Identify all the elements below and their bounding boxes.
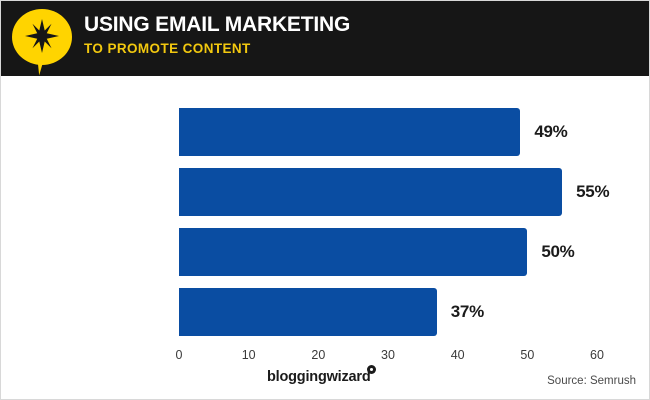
bar-row: Successful55% xyxy=(179,168,597,216)
star-burst-icon xyxy=(25,19,59,53)
bar-value-label: 50% xyxy=(541,242,574,262)
bar-row: Minimally Successful50% xyxy=(179,228,597,276)
bar xyxy=(179,288,437,336)
bar xyxy=(179,108,520,156)
page-subtitle: TO PROMOTE CONTENT xyxy=(84,40,350,57)
x-tick-label: 50 xyxy=(520,348,534,362)
bar-value-label: 49% xyxy=(534,122,567,142)
x-tick-label: 60 xyxy=(590,348,604,362)
x-tick-label: 10 xyxy=(242,348,256,362)
registered-dot-icon xyxy=(367,365,376,374)
x-tick-label: 40 xyxy=(451,348,465,362)
header-text-block: USING EMAIL MARKETING TO PROMOTE CONTENT xyxy=(84,13,350,57)
bar-chart-plot: Very Successful49%Successful55%Minimally… xyxy=(179,106,597,343)
source-credit: Source: Semrush xyxy=(547,375,636,387)
bar xyxy=(179,228,527,276)
bar xyxy=(179,168,562,216)
bar-row: Unsuccessful37% xyxy=(179,288,597,336)
bar-value-label: 55% xyxy=(576,182,609,202)
x-tick-label: 20 xyxy=(311,348,325,362)
bar-row: Very Successful49% xyxy=(179,108,597,156)
infographic-root: USING EMAIL MARKETING TO PROMOTE CONTENT… xyxy=(0,0,650,400)
bar-value-label: 37% xyxy=(451,302,484,322)
chart-container: Very Successful49%Successful55%Minimally… xyxy=(1,76,650,400)
page-title: USING EMAIL MARKETING xyxy=(84,13,350,37)
brand-wordmark: bloggingwizard xyxy=(267,369,371,385)
x-tick-label: 30 xyxy=(381,348,395,362)
header-banner: USING EMAIL MARKETING TO PROMOTE CONTENT xyxy=(1,1,650,76)
x-tick-label: 0 xyxy=(176,348,183,362)
brand-logo xyxy=(12,9,72,69)
